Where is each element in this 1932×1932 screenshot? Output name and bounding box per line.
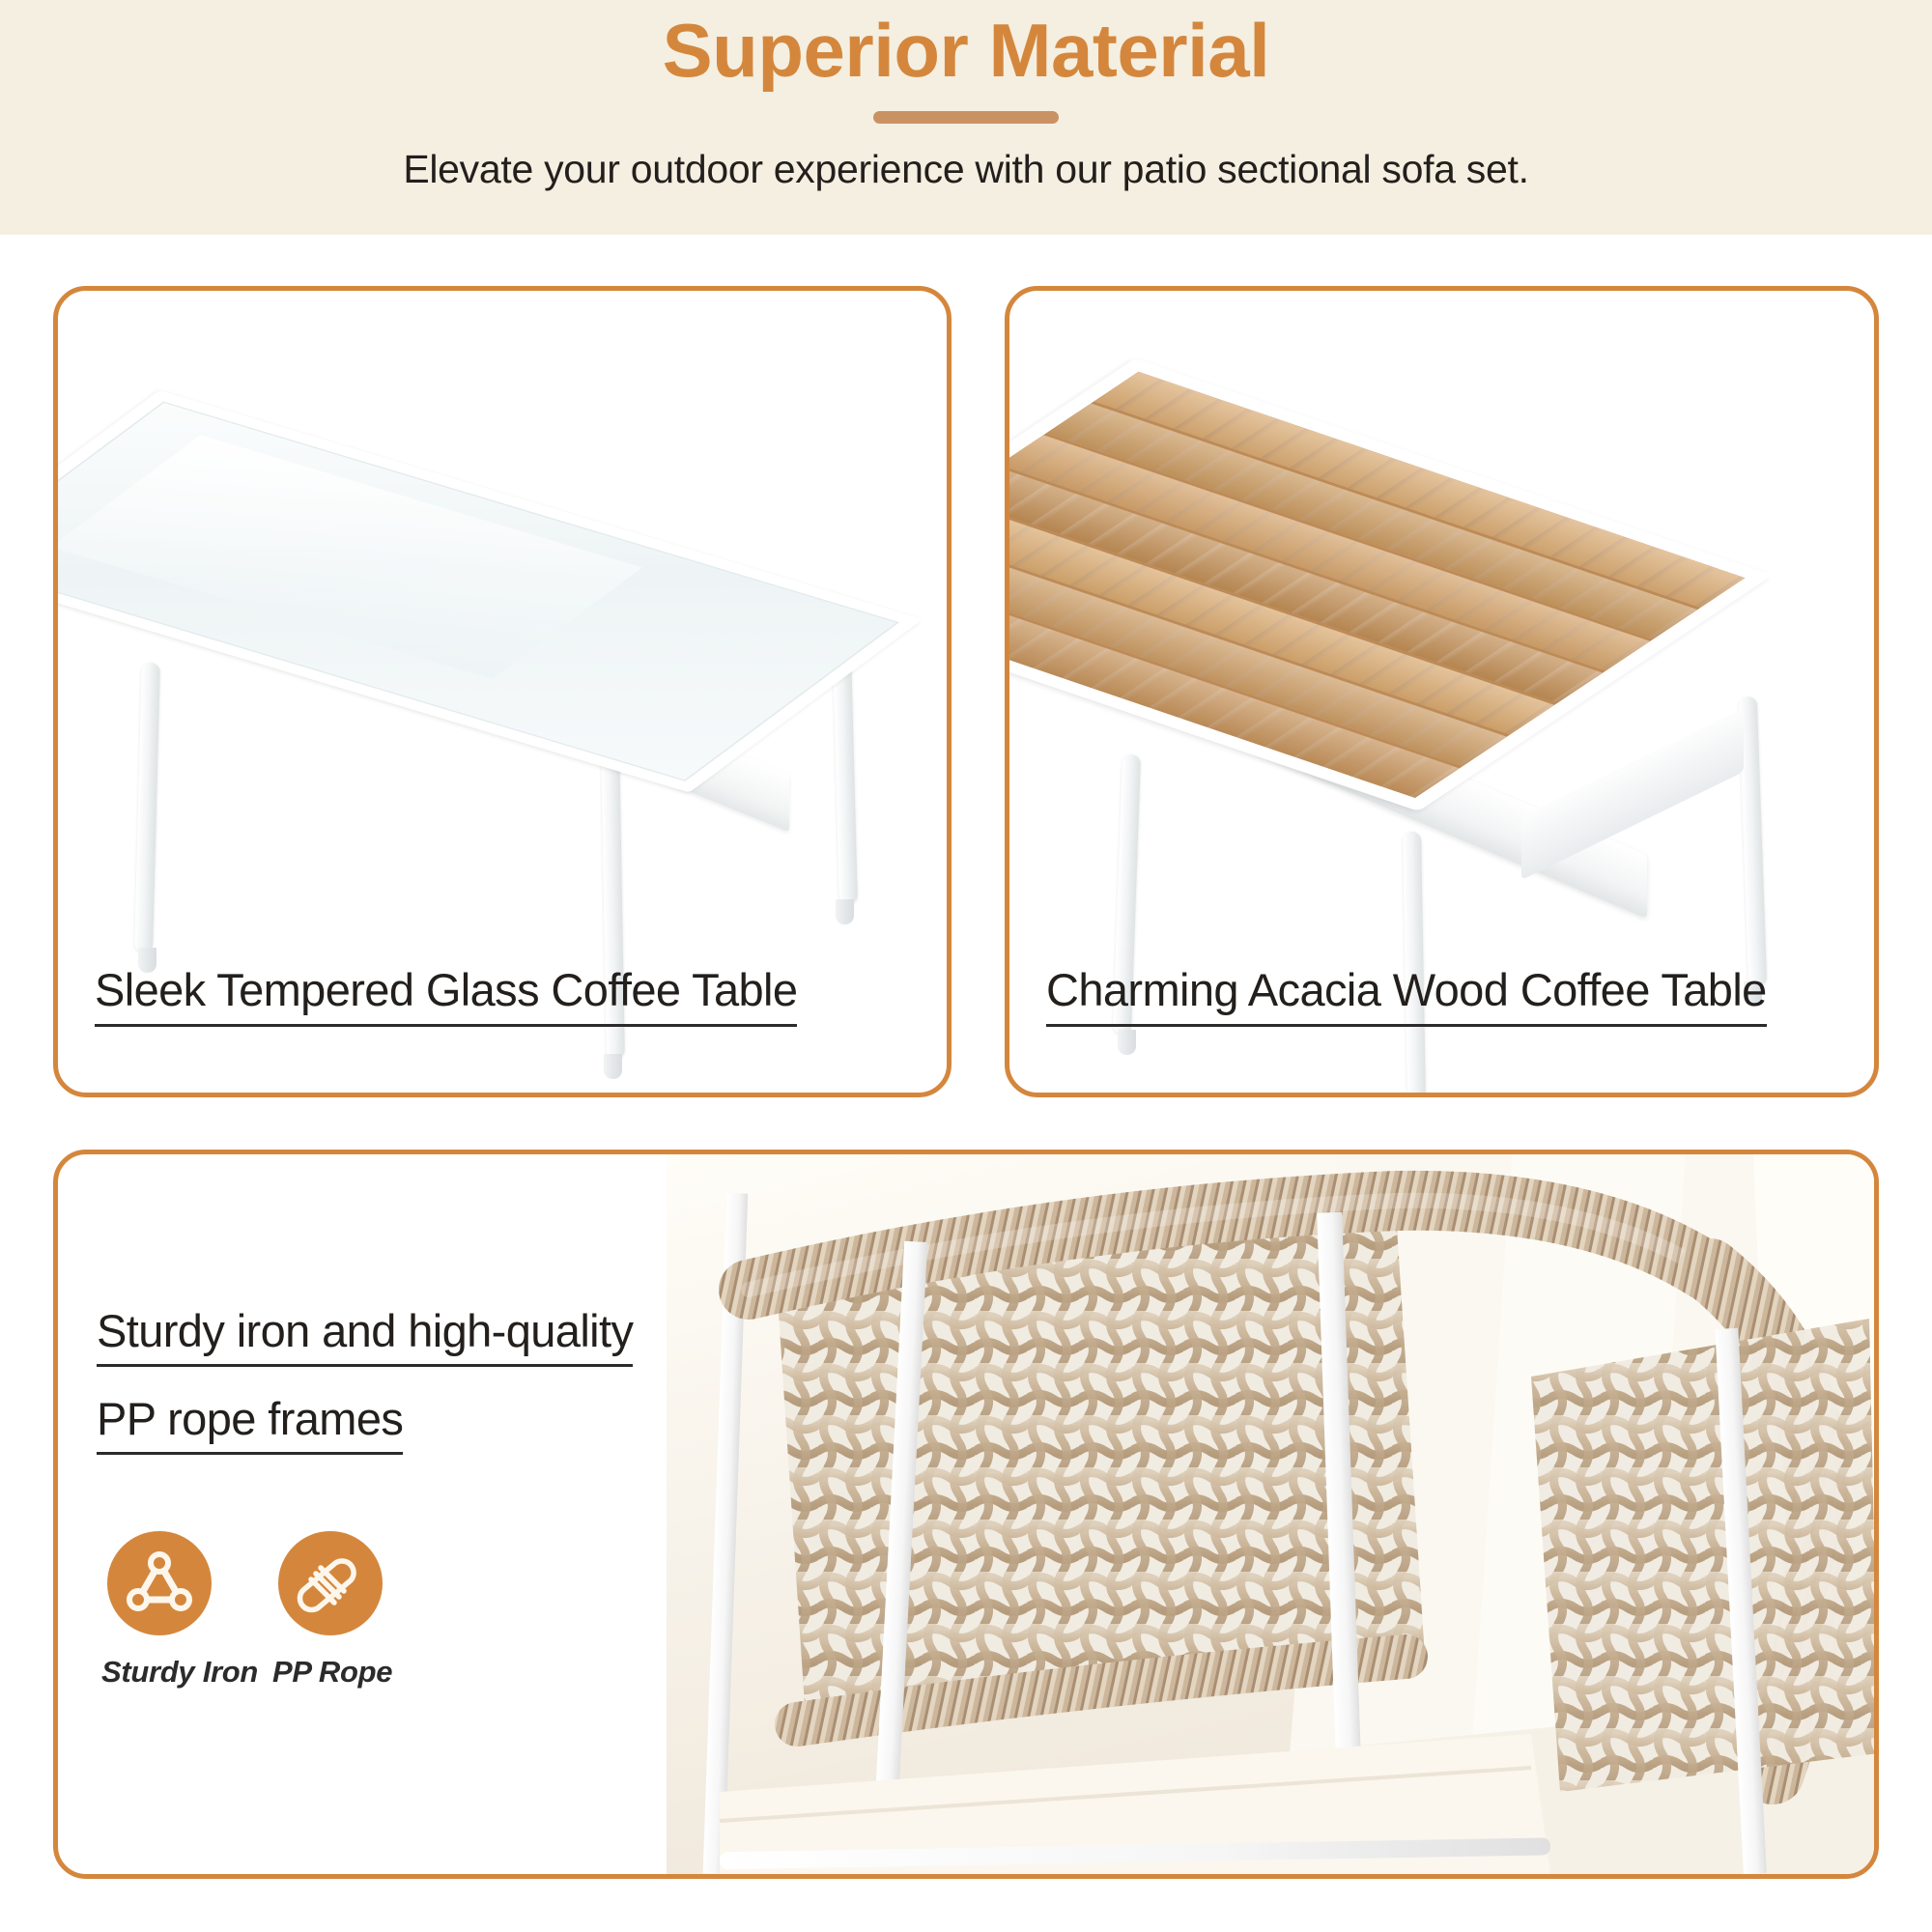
card-glass-table: Sleek Tempered Glass Coffee Table	[53, 286, 952, 1097]
infographic-page: Superior Material Elevate your outdoor e…	[0, 0, 1932, 1932]
tempered-glass-top	[53, 390, 923, 792]
leg-cap	[1118, 1030, 1136, 1055]
badge-label-pp-rope: PP Rope	[272, 1655, 388, 1690]
header-band: Superior Material Elevate your outdoor e…	[0, 0, 1932, 235]
badge-pp-rope: PP Rope	[272, 1531, 388, 1690]
rope-coil-glyph	[294, 1547, 367, 1620]
feature-badges: Sturdy Iron PP Rope	[101, 1531, 388, 1690]
triangle-frame-icon	[107, 1531, 212, 1635]
rope-sofa-illustration	[667, 1154, 1874, 1874]
title-divider	[873, 111, 1059, 124]
wood-slats	[1005, 372, 1746, 798]
leg-cap	[604, 1054, 622, 1079]
table-leg	[134, 663, 160, 952]
page-subtitle: Elevate your outdoor experience with our…	[403, 147, 1528, 192]
caption-wrap: Charming Acacia Wood Coffee Table	[1009, 963, 1874, 1027]
leg-cap	[836, 899, 854, 924]
card-wood-table: Charming Acacia Wood Coffee Table	[1005, 286, 1879, 1097]
rope-heading: Sturdy iron and high-quality PP rope fra…	[97, 1304, 696, 1480]
rope-coil-icon	[278, 1531, 383, 1635]
badge-label-sturdy-iron: Sturdy Iron	[101, 1655, 217, 1690]
caption-wrap: Sleek Tempered Glass Coffee Table	[58, 963, 947, 1027]
acacia-slat-top	[1005, 358, 1773, 811]
card-caption-wood: Charming Acacia Wood Coffee Table	[1046, 963, 1767, 1027]
triangle-frame-glyph	[124, 1548, 195, 1619]
pp-rope-sofa-backrest-photo	[667, 1154, 1874, 1874]
rope-heading-line-1: Sturdy iron and high-quality	[97, 1304, 633, 1367]
glass-reflection	[53, 435, 642, 679]
badge-sturdy-iron: Sturdy Iron	[101, 1531, 217, 1690]
card-caption-glass: Sleek Tempered Glass Coffee Table	[95, 963, 797, 1027]
card-rope-frame: Sturdy iron and high-quality PP rope fra…	[53, 1150, 1879, 1879]
page-title: Superior Material	[663, 8, 1270, 95]
rope-heading-line-2: PP rope frames	[97, 1392, 403, 1455]
